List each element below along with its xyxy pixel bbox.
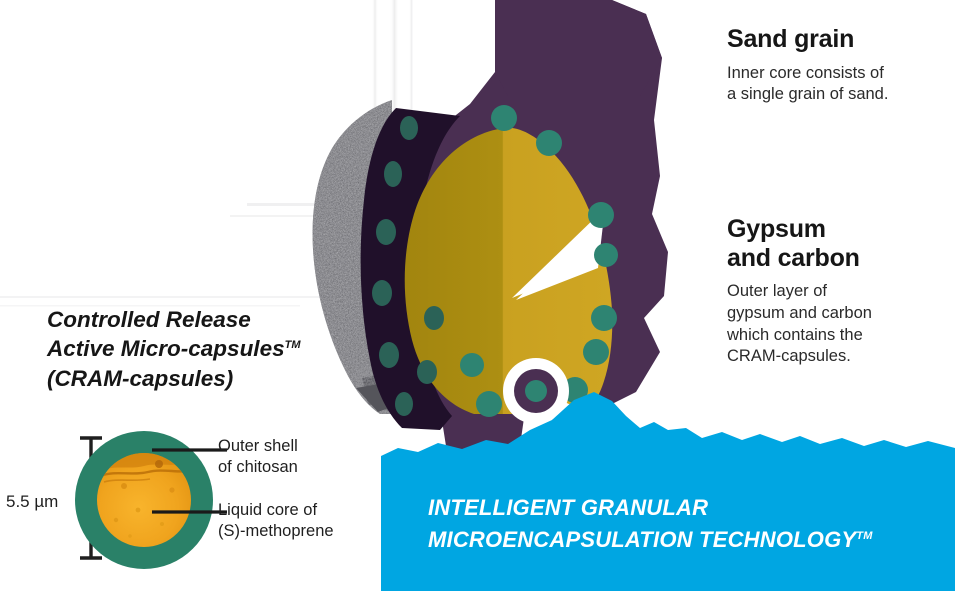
callout-gypsum-carbon: Gypsum and carbon Outer layer of gypsum … [727, 215, 932, 368]
cram-heading-line2: Active Micro-capsules [47, 336, 285, 361]
cram-heading-line3: (CRAM-capsules) [47, 366, 233, 391]
capsule-outer-shell-label: Outer shell of chitosan [218, 436, 358, 479]
callout-gypsum-carbon-title: Gypsum and carbon [727, 215, 932, 272]
callout-sand-grain: Sand grain Inner core consists of a sing… [727, 25, 942, 106]
cram-capsules-heading: Controlled ReleaseActive Micro-capsulesT… [47, 305, 357, 393]
infographic-canvas: Sand grain Inner core consists of a sing… [0, 0, 955, 591]
capsule-liquid-core-label: Liquid core of (S)-methoprene [218, 500, 368, 543]
callout-sand-grain-body: Inner core consists of a single grain of… [727, 63, 942, 107]
callout-sand-grain-title: Sand grain [727, 25, 942, 54]
callout-gypsum-carbon-body: Outer layer of gypsum and carbon which c… [727, 281, 932, 368]
cram-heading-trademark: TM [285, 339, 301, 351]
banner-trademark: TM [856, 530, 872, 542]
cram-heading-line1: Controlled Release [47, 307, 251, 332]
capsule-scale-label: 5.5 µm [6, 492, 58, 512]
banner-text: INTELLIGENT GRANULARMICROENCAPSULATION T… [428, 492, 948, 556]
banner-line2: MICROENCAPSULATION TECHNOLOGY [428, 527, 856, 552]
banner-line1: INTELLIGENT GRANULAR [428, 495, 708, 520]
